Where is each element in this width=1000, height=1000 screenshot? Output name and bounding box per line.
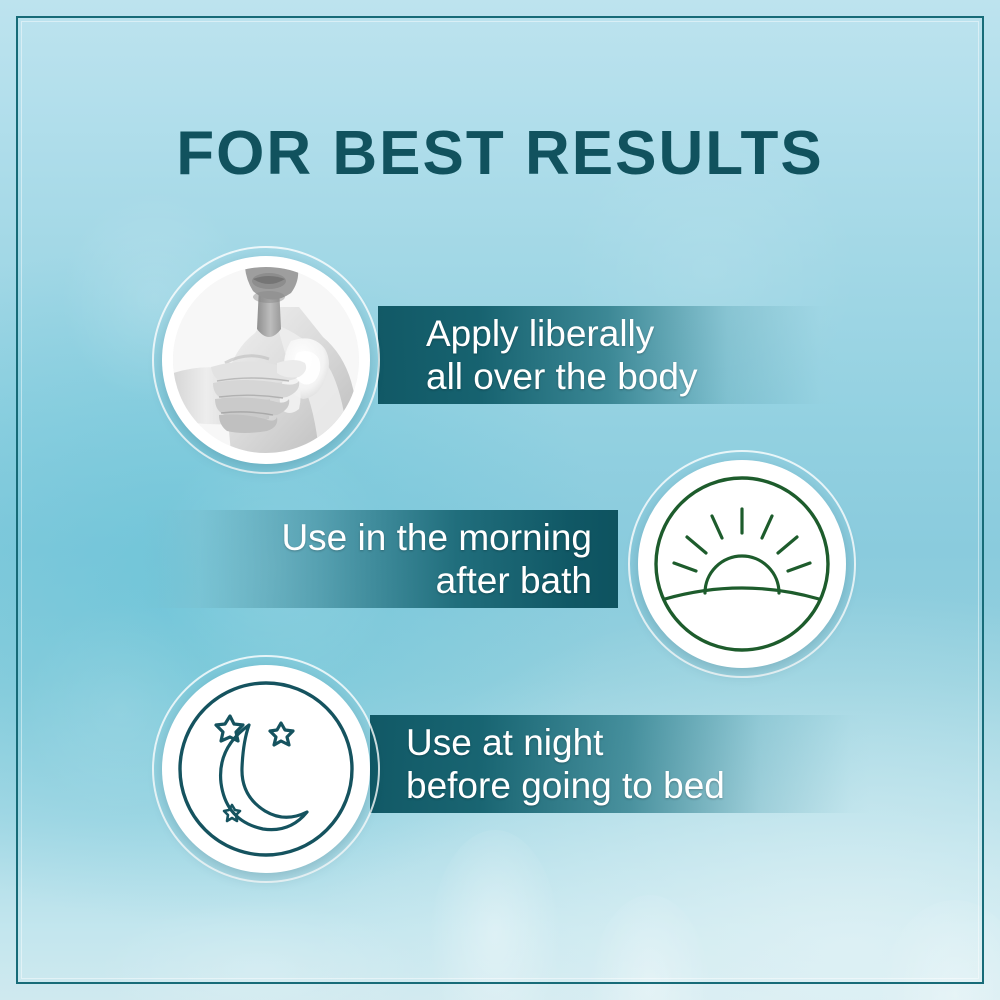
step-text-apply: Apply liberally all over the body — [426, 312, 698, 398]
step-media-apply — [152, 246, 380, 474]
step-text-night: Use at night before going to bed — [406, 721, 725, 807]
bokeh-blob — [880, 900, 1000, 1000]
step-media-night — [152, 655, 380, 883]
step-row-morning: Use in the morning after bath — [0, 450, 1000, 670]
step-row-night: Use at night before going to bed — [0, 655, 1000, 875]
circle-white-frame — [162, 665, 370, 873]
woman-applying-cream-photo — [173, 267, 359, 453]
bokeh-blob — [100, 900, 420, 1000]
poster-canvas: FOR BEST RESULTS Apply liberally all ove… — [0, 0, 1000, 1000]
sunrise-icon — [649, 471, 835, 657]
step-text-morning: Use in the morning after bath — [281, 516, 592, 602]
page-title: FOR BEST RESULTS — [0, 118, 1000, 189]
step-media-morning — [628, 450, 856, 678]
circle-white-frame — [162, 256, 370, 464]
bokeh-blob — [590, 895, 710, 1000]
step-banner-night: Use at night before going to bed — [370, 715, 870, 813]
step-row-apply: Apply liberally all over the body — [0, 246, 1000, 466]
step-banner-apply: Apply liberally all over the body — [378, 306, 838, 404]
crescent-moon-stars-icon — [173, 676, 359, 862]
circle-white-frame — [638, 460, 846, 668]
step-banner-morning: Use in the morning after bath — [142, 510, 618, 608]
